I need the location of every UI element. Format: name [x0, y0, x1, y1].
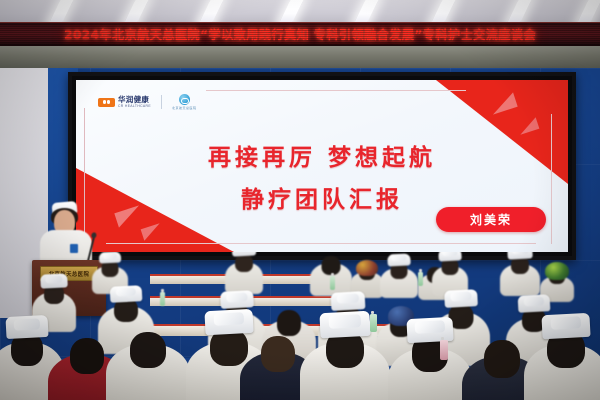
audience-member	[500, 252, 540, 296]
logo-divider	[161, 95, 162, 109]
audience-member	[524, 314, 600, 400]
ceiling-light	[199, 0, 225, 24]
ceiling-light	[354, 0, 380, 24]
water-bottle	[370, 314, 377, 332]
slide-hairline	[106, 243, 536, 244]
hospital-logo-icon	[179, 94, 190, 105]
nurse-cap	[40, 273, 68, 288]
ceiling-light	[124, 0, 150, 24]
ceiling-light	[431, 0, 457, 24]
nurse-cap	[438, 252, 462, 262]
slide-hairline	[206, 90, 466, 91]
wall-soffit	[0, 46, 600, 68]
ceiling-light	[507, 0, 533, 24]
nurse-cap	[319, 311, 370, 339]
nurse-cap	[110, 285, 143, 303]
audience-member	[380, 252, 418, 298]
nurse-cap	[99, 252, 122, 264]
headscarf	[545, 262, 569, 280]
nurse-cap	[444, 289, 478, 308]
nurse-cap	[387, 253, 411, 266]
ceiling-light	[577, 0, 600, 24]
water-bottle	[330, 276, 335, 290]
slide-logo-group: 华润健康 CR HEALTHCARE 北京航天总医院	[98, 94, 196, 110]
audience-head	[70, 338, 104, 374]
cr-healthcare-logo-cn: 华润健康	[118, 96, 151, 104]
nurse-cap	[220, 290, 254, 309]
slide-hairline	[551, 114, 552, 244]
audience-head	[130, 332, 166, 368]
audience-head	[484, 340, 520, 378]
nurse-cap	[507, 252, 533, 260]
audience-member	[388, 318, 472, 400]
nurse-cap	[331, 291, 366, 311]
presenter-name-badge: 刘美荣	[436, 207, 546, 232]
water-bottle	[418, 272, 423, 286]
hospital-logo: 北京航天总医院	[172, 94, 197, 110]
ceiling-light	[49, 0, 75, 24]
nurse-cap	[541, 313, 590, 339]
nurse-cap	[232, 252, 257, 257]
cr-healthcare-logo-icon	[98, 98, 115, 107]
audience-head	[235, 254, 253, 272]
water-bottle	[160, 292, 165, 306]
audience-head	[261, 336, 295, 372]
audience-member	[106, 316, 190, 400]
ceiling	[0, 0, 600, 24]
slide: 华润健康 CR HEALTHCARE 北京航天总医院 再接再厉 梦想起航 静疗团…	[76, 80, 568, 252]
ceiling-light	[279, 0, 305, 24]
slide-title: 再接再厉 梦想起航	[76, 138, 568, 172]
headscarf	[356, 260, 378, 276]
cr-healthcare-logo-en: CR HEALTHCARE	[118, 105, 151, 108]
led-banner: 2024年北京航天总医院“学以致用践行真知 专科引领融合发展”专科护士交流座谈会	[0, 22, 600, 46]
nurse-cap	[5, 315, 48, 339]
hospital-logo-text: 北京航天总医院	[172, 106, 197, 110]
led-banner-text: 2024年北京航天总医院“学以致用践行真知 专科引领融合发展”专科护士交流座谈会	[64, 25, 536, 43]
water-bottle	[440, 340, 448, 360]
conference-room-photo: 2024年北京航天总医院“学以致用践行真知 专科引领融合发展”专科护士交流座谈会…	[0, 0, 600, 400]
audience	[0, 252, 600, 400]
cr-healthcare-logo: 华润健康 CR HEALTHCARE	[98, 96, 151, 108]
presentation-screen: 华润健康 CR HEALTHCARE 北京航天总医院 再接再厉 梦想起航 静疗团…	[68, 72, 576, 260]
nurse-cap	[518, 294, 551, 313]
